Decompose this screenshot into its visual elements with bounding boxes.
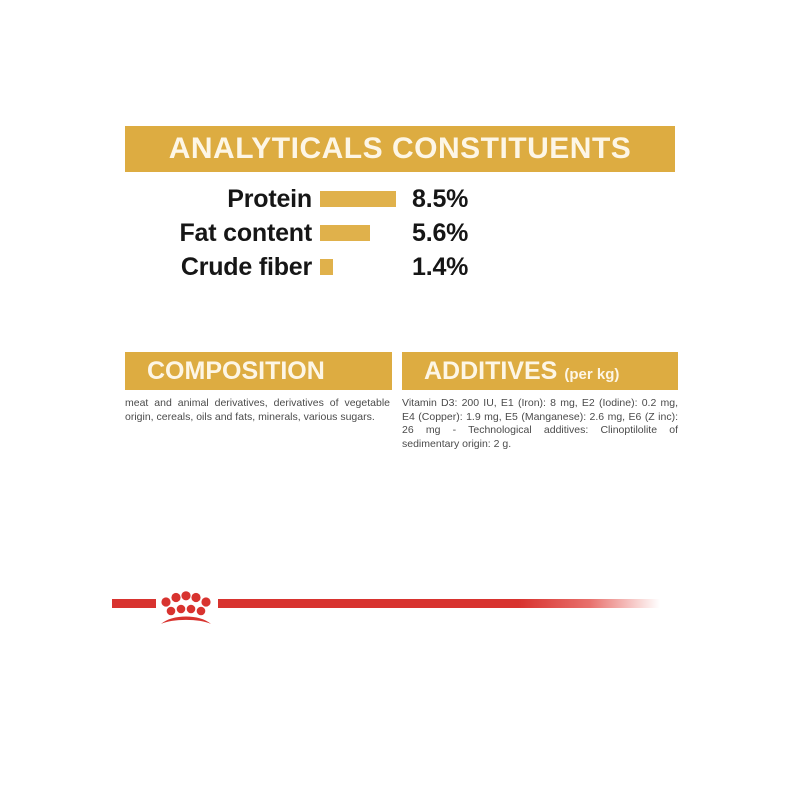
composition-title: COMPOSITION bbox=[147, 352, 325, 390]
additives-subtitle: (per kg) bbox=[564, 356, 619, 394]
analytical-label-protein: Protein bbox=[125, 185, 320, 214]
composition-body-text: meat and animal derivatives, derivatives… bbox=[125, 397, 392, 424]
analytical-label-fat-content: Fat content bbox=[125, 219, 320, 248]
footer-rule-right bbox=[218, 599, 660, 608]
analytical-bar-fat-content bbox=[320, 225, 370, 241]
composition-column: COMPOSITION meat and animal derivatives,… bbox=[125, 352, 392, 451]
footer-rule-left bbox=[112, 599, 156, 608]
analytical-bar-wrap bbox=[320, 191, 412, 207]
analytical-bar-crude-fiber bbox=[320, 259, 333, 275]
brand-footer bbox=[0, 588, 800, 634]
analytical-label-crude-fiber: Crude fiber bbox=[125, 253, 320, 282]
analytical-value-crude-fiber: 1.4% bbox=[412, 253, 468, 282]
analytical-bar-wrap bbox=[320, 225, 412, 241]
analyticals-header-band: ANALYTICALS CONSTITUENTS bbox=[125, 126, 675, 172]
info-section: COMPOSITION meat and animal derivatives,… bbox=[125, 352, 678, 451]
composition-header-band: COMPOSITION bbox=[125, 352, 392, 390]
analytical-row: Fat content 5.6% bbox=[125, 216, 675, 250]
analyticals-rows: Protein 8.5% Fat content 5.6% Crude fibe… bbox=[125, 182, 675, 284]
additives-body-text: Vitamin D3: 200 IU, E1 (Iron): 8 mg, E2 … bbox=[402, 397, 678, 451]
additives-title: ADDITIVES bbox=[424, 352, 557, 390]
analytical-row: Crude fiber 1.4% bbox=[125, 250, 675, 284]
analyticals-title: ANALYTICALS CONSTITUENTS bbox=[169, 134, 632, 164]
additives-header-band: ADDITIVES (per kg) bbox=[402, 352, 678, 390]
nutrition-panel: ANALYTICALS CONSTITUENTS Protein 8.5% Fa… bbox=[0, 0, 800, 800]
analytical-row: Protein 8.5% bbox=[125, 182, 675, 216]
crown-logo-icon bbox=[158, 588, 214, 628]
analytical-value-fat-content: 5.6% bbox=[412, 219, 468, 248]
additives-column: ADDITIVES (per kg) Vitamin D3: 200 IU, E… bbox=[402, 352, 678, 451]
analytical-bar-wrap bbox=[320, 259, 412, 275]
analytical-value-protein: 8.5% bbox=[412, 185, 468, 214]
analytical-bar-protein bbox=[320, 191, 396, 207]
